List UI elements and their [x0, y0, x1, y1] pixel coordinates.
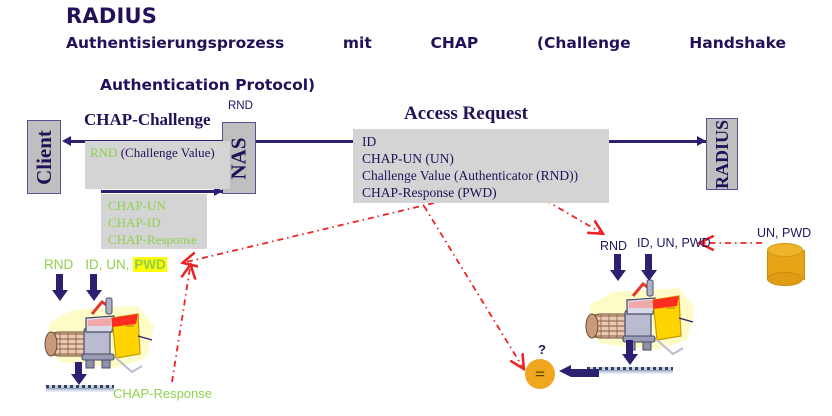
access-request-lines: ID CHAP-UN (UN) Challenge Value (Authent… — [362, 133, 578, 201]
client-chap-response-hash — [46, 385, 114, 392]
comparison-question-mark: ? — [538, 342, 546, 357]
client-input-rnd: RND — [44, 257, 73, 272]
chap-value-item: CHAP-UN — [108, 197, 197, 214]
client-chap-response-label: CHAP-Response — [113, 386, 212, 401]
client-input-id-un: ID, UN, — [85, 257, 129, 272]
chap-value-item: CHAP-ID — [108, 214, 197, 231]
node-client-label: Client — [32, 130, 57, 185]
server-input-rnd: RND — [600, 239, 627, 253]
challenge-value-panel: RND (Challenge Value) — [85, 141, 230, 189]
access-request-line: Challenge Value (Authenticator (RND)) — [362, 167, 578, 184]
challenge-value-text: RND (Challenge Value) — [90, 144, 228, 161]
server-computed-hash — [587, 367, 673, 374]
node-nas-label: NAS — [227, 137, 252, 179]
nas-rnd-label: RND — [228, 100, 253, 112]
access-request-line: CHAP-UN (UN) — [362, 150, 578, 167]
database-cylinder-icon[interactable] — [767, 243, 803, 287]
line-client-to-nas — [101, 190, 223, 193]
arrowhead-to-radius — [697, 136, 706, 146]
line-access-request-to-radius — [609, 140, 706, 143]
chap-challenge-label: CHAP-Challenge — [84, 110, 211, 130]
page-title: RADIUS — [66, 4, 157, 28]
client-input-pwd: PWD — [133, 257, 167, 272]
node-radius-server[interactable]: RADIUS — [706, 118, 738, 190]
subtitle-line-1: Authentisierungsprozess mit CHAP (Challe… — [66, 33, 786, 75]
comparison-equals-badge: = — [525, 359, 555, 389]
arrow-grinder-output-left — [73, 362, 84, 385]
access-request-title: Access Request — [404, 103, 528, 125]
challenge-value-rest: (Challenge Value) — [117, 145, 214, 160]
node-radius-label: RADIUS — [712, 119, 733, 188]
access-request-line: ID — [362, 133, 578, 150]
access-request-line: CHAP-Response (PWD) — [362, 184, 578, 201]
client-hash-inputs: RNDID, UN, PWD — [44, 257, 167, 272]
arrow-grinder-output-right — [624, 340, 635, 365]
server-input-values: ID, UN, PWD — [637, 236, 711, 250]
chap-value-item: CHAP-Response — [108, 231, 197, 248]
hash-grinder-server-icon — [583, 274, 701, 360]
page-subtitle: Authentisierungsprozess mit CHAP (Challe… — [66, 33, 786, 96]
arrowhead-to-client — [62, 136, 71, 146]
hash-grinder-client-icon — [42, 292, 160, 378]
node-client[interactable]: Client — [27, 120, 61, 194]
challenge-rnd-token: RND — [90, 145, 117, 160]
line-nas-to-access-request — [256, 140, 354, 143]
database-label: UN, PWD — [757, 226, 811, 240]
chap-values-list: CHAP-UN CHAP-ID CHAP-Response — [108, 197, 197, 248]
chap-values-panel: CHAP-UN CHAP-ID CHAP-Response — [101, 194, 207, 249]
subtitle-line-2: Authentication Protocol) — [66, 75, 786, 96]
access-request-panel: ID CHAP-UN (UN) Challenge Value (Authent… — [353, 129, 609, 203]
